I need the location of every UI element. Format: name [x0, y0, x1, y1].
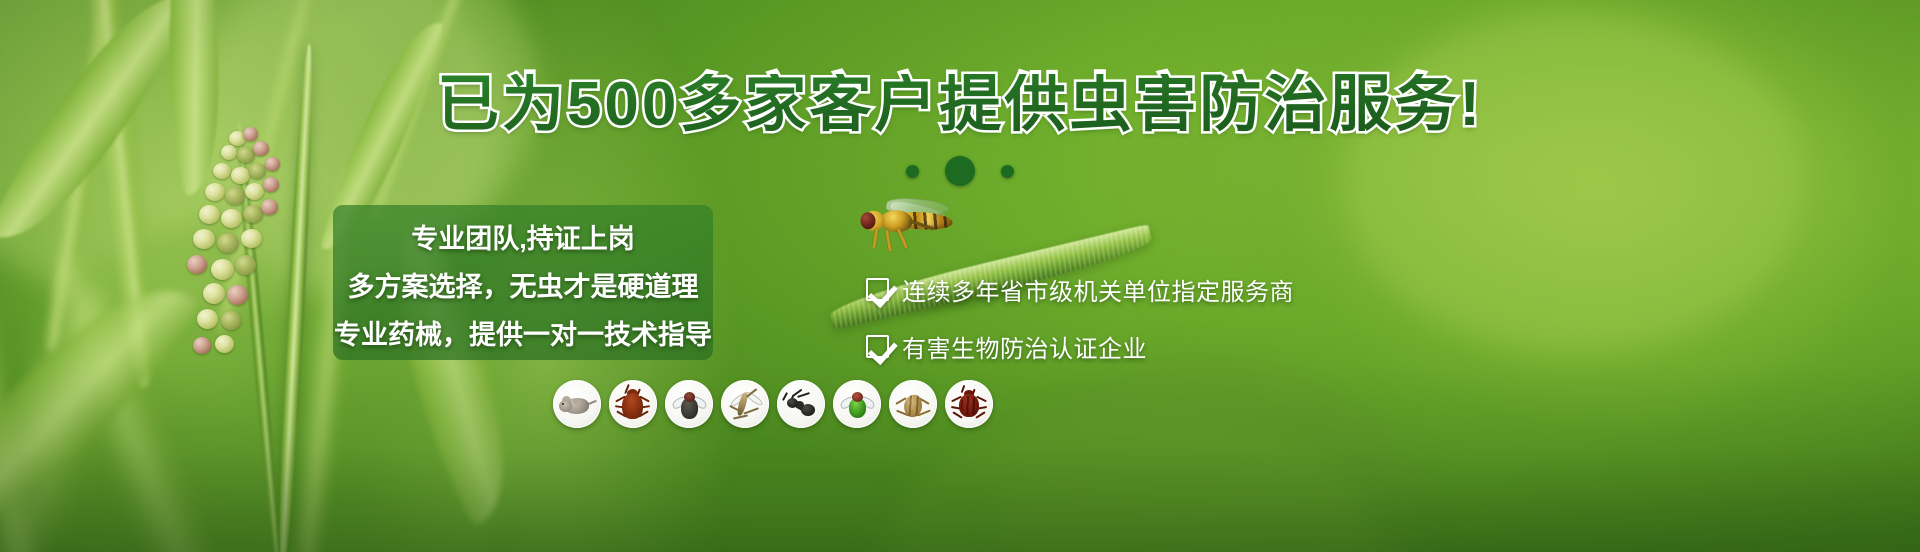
decorative-dots: [0, 156, 1920, 186]
pest-icon-flea[interactable]: [889, 380, 937, 428]
pest-icon-housefly[interactable]: [665, 380, 713, 428]
credentials-checklist: 连续多年省市级机关单位指定服务商 有害生物防治认证企业: [866, 272, 1294, 364]
pest-icon-cockroach[interactable]: [609, 380, 657, 428]
pest-icon-mosquito[interactable]: [721, 380, 769, 428]
checkbox-checked-icon: [866, 335, 889, 358]
credential-label-1: 连续多年省市级机关单位指定服务商: [902, 272, 1294, 307]
selling-point-line-3: 专业药械，提供一对一技术指导: [334, 313, 712, 352]
selling-point-line-1: 专业团队,持证上岗: [411, 217, 635, 256]
pest-icon-mouse[interactable]: [553, 380, 601, 428]
pest-icon-row: [553, 380, 993, 428]
pest-icon-bedbug[interactable]: [945, 380, 993, 428]
pest-icon-greenbottle[interactable]: [833, 380, 881, 428]
dot-large-center-icon: [945, 156, 975, 186]
list-item: 有害生物防治认证企业: [866, 329, 1294, 364]
list-item: 连续多年省市级机关单位指定服务商: [866, 272, 1294, 307]
pest-icon-ant[interactable]: [777, 380, 825, 428]
promo-banner: 已为500多家客户提供虫害防治服务! 已为500多家客户提供虫害防治服务! 专业…: [0, 0, 1920, 552]
checkbox-checked-icon: [866, 278, 889, 301]
selling-point-line-2: 多方案选择，无虫才是硬道理: [348, 265, 699, 304]
dot-small-right-icon: [1001, 165, 1014, 178]
selling-points-text: 专业团队,持证上岗 多方案选择，无虫才是硬道理 专业药械，提供一对一技术指导: [333, 205, 713, 360]
page-title: 已为500多家客户提供虫害防治服务!: [0, 74, 1920, 136]
dot-small-left-icon: [906, 165, 919, 178]
credential-label-2: 有害生物防治认证企业: [902, 329, 1147, 364]
headline-group: 已为500多家客户提供虫害防治服务! 已为500多家客户提供虫害防治服务!: [0, 0, 1920, 90]
